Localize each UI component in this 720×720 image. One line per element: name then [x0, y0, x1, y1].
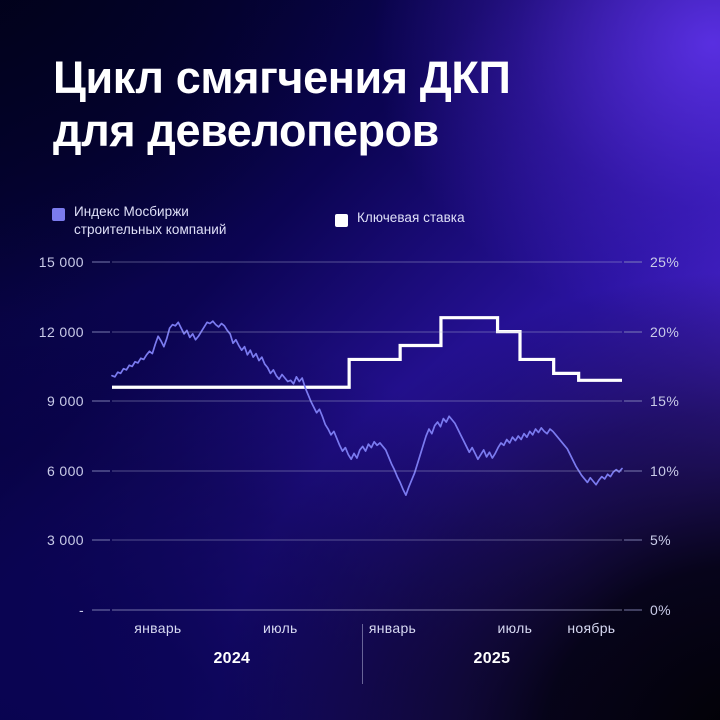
- chart-area: 15 00012 0009 0006 0003 000- 25%20%15%10…: [0, 262, 720, 622]
- x-axis-tick-label: январь: [369, 620, 416, 636]
- y-axis-right-tick-label: 10%: [650, 463, 679, 479]
- y-axis-left-tick-mark: [92, 470, 110, 471]
- chart-legend: Индекс Мосбиржи строительных компаний Кл…: [52, 203, 672, 247]
- y-axis-left-tick-mark: [92, 540, 110, 541]
- x-axis-tick-label: январь: [134, 620, 181, 636]
- y-axis-right-tick-label: 25%: [650, 254, 679, 270]
- x-axis-tick-label: ноябрь: [567, 620, 615, 636]
- y-axis-left-tick-mark: [92, 331, 110, 332]
- y-axis-right-tick-mark: [624, 610, 642, 611]
- legend-item-label: Индекс Мосбиржи строительных компаний: [74, 203, 226, 239]
- y-axis-right-tick-mark: [624, 470, 642, 471]
- x-axis-year-labels: 20242025: [112, 650, 622, 676]
- x-axis-labels: январьиюльянварьиюльноябрь: [112, 620, 622, 646]
- y-axis-left-tick-mark: [92, 610, 110, 611]
- y-axis-right-tick-label: 20%: [650, 324, 679, 340]
- square-swatch-icon: [52, 208, 65, 221]
- key-rate-line: [112, 318, 622, 388]
- gridline: [112, 470, 622, 471]
- y-axis-left-tick-mark: [92, 262, 110, 263]
- gridline: [112, 610, 622, 611]
- y-axis-right-tick-mark: [624, 331, 642, 332]
- y-axis-left-tick-label: 15 000: [39, 254, 84, 270]
- y-axis-left-tick-mark: [92, 401, 110, 402]
- gridline: [112, 331, 622, 332]
- x-axis-tick-label: июль: [498, 620, 533, 636]
- y-axis-right-tick-label: 0%: [650, 602, 671, 618]
- legend-item-key-rate: Ключевая ставка: [335, 209, 465, 227]
- page-title: Цикл смягчения ДКП для девелоперов: [53, 52, 693, 157]
- gridline: [112, 262, 622, 263]
- y-axis-left-index: 15 00012 0009 0006 0003 000-: [0, 262, 112, 610]
- plot-svg: [112, 262, 622, 610]
- y-axis-left-tick-label: 12 000: [39, 324, 84, 340]
- legend-item-index: Индекс Мосбиржи строительных компаний: [52, 203, 226, 239]
- gridline: [112, 540, 622, 541]
- poster-root: Цикл смягчения ДКП для девелоперов Индек…: [0, 0, 720, 720]
- y-axis-right-tick-mark: [624, 401, 642, 402]
- x-axis-year-label: 2024: [213, 650, 250, 668]
- plot-region: [112, 262, 622, 610]
- y-axis-right-tick-mark: [624, 262, 642, 263]
- y-axis-left-tick-label: 6 000: [47, 463, 84, 479]
- x-axis-tick-label: июль: [263, 620, 298, 636]
- y-axis-left-tick-label: 9 000: [47, 393, 84, 409]
- y-axis-left-tick-label: -: [79, 602, 84, 618]
- legend-item-label: Ключевая ставка: [357, 209, 465, 227]
- x-axis-year-label: 2025: [474, 650, 511, 668]
- y-axis-left-tick-label: 3 000: [47, 532, 84, 548]
- index-line: [112, 321, 622, 495]
- y-axis-right-tick-label: 15%: [650, 393, 679, 409]
- y-axis-right-keyrate: 25%20%15%10%5%0%: [622, 262, 720, 610]
- square-swatch-icon: [335, 214, 348, 227]
- y-axis-right-tick-mark: [624, 540, 642, 541]
- y-axis-right-tick-label: 5%: [650, 532, 671, 548]
- gridline: [112, 401, 622, 402]
